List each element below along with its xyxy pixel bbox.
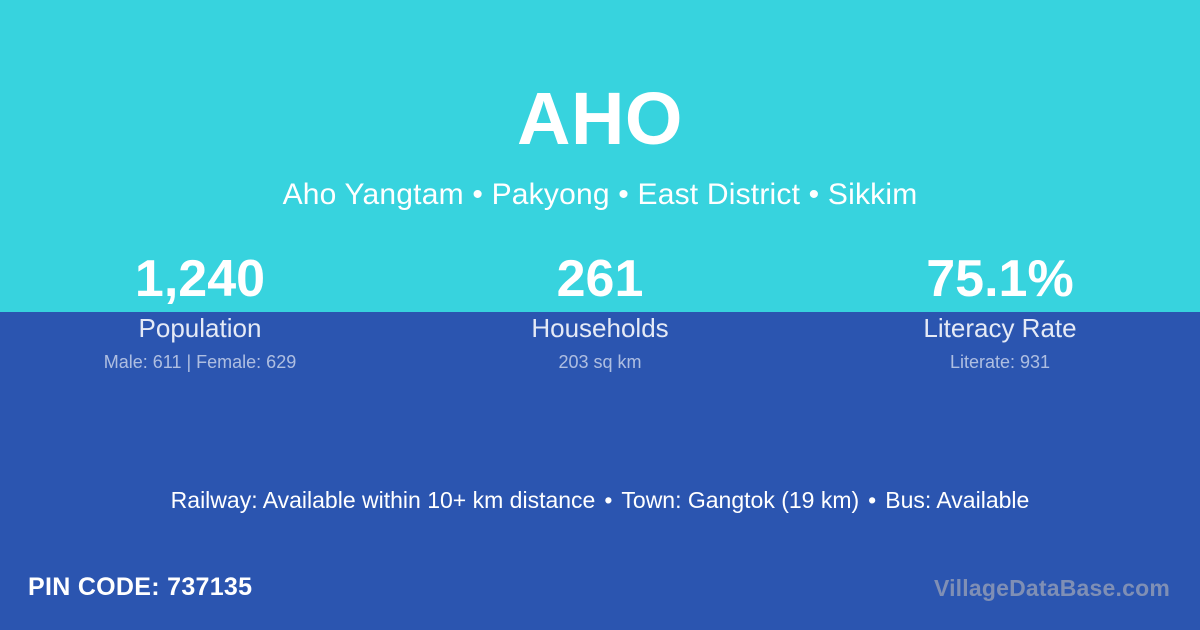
card-footer: PIN CODE: 737135 VillageDataBase.com bbox=[0, 558, 1200, 630]
stat-literacy-rate: 75.1% Literacy Rate Literate: 931 bbox=[800, 250, 1200, 373]
breadcrumb: Aho Yangtam • Pakyong • East District • … bbox=[0, 156, 1200, 210]
stat-label-population: Population bbox=[0, 313, 400, 343]
pin-code-label: PIN CODE: 737135 bbox=[28, 572, 252, 602]
stat-label-literacy-rate: Literacy Rate bbox=[800, 313, 1200, 343]
bullet-separator-icon: • bbox=[595, 483, 621, 517]
transit-railway: Railway: Available within 10+ km distanc… bbox=[171, 487, 596, 513]
transit-info-line: Railway: Available within 10+ km distanc… bbox=[0, 483, 1200, 517]
stat-sub-literacy-rate: Literate: 931 bbox=[800, 351, 1200, 373]
stats-row: 1,240 Population Male: 611 | Female: 629… bbox=[0, 250, 1200, 373]
stat-sub-households: 203 sq km bbox=[400, 351, 800, 373]
transit-town: Town: Gangtok (19 km) bbox=[621, 487, 859, 513]
stat-label-households: Households bbox=[400, 313, 800, 343]
card-header: AHO Aho Yangtam • Pakyong • East Distric… bbox=[0, 0, 1200, 210]
page-title: AHO bbox=[0, 0, 1200, 156]
stat-population: 1,240 Population Male: 611 | Female: 629 bbox=[0, 250, 400, 373]
stat-value-literacy-rate: 75.1% bbox=[800, 250, 1200, 308]
stat-sub-population: Male: 611 | Female: 629 bbox=[0, 351, 400, 373]
transit-bus: Bus: Available bbox=[885, 487, 1029, 513]
stat-value-population: 1,240 bbox=[0, 250, 400, 308]
stat-value-households: 261 bbox=[400, 250, 800, 308]
village-info-card: AHO Aho Yangtam • Pakyong • East Distric… bbox=[0, 0, 1200, 630]
brand-watermark: VillageDataBase.com bbox=[934, 574, 1170, 602]
stat-households: 261 Households 203 sq km bbox=[400, 250, 800, 373]
bullet-separator-icon: • bbox=[859, 483, 885, 517]
